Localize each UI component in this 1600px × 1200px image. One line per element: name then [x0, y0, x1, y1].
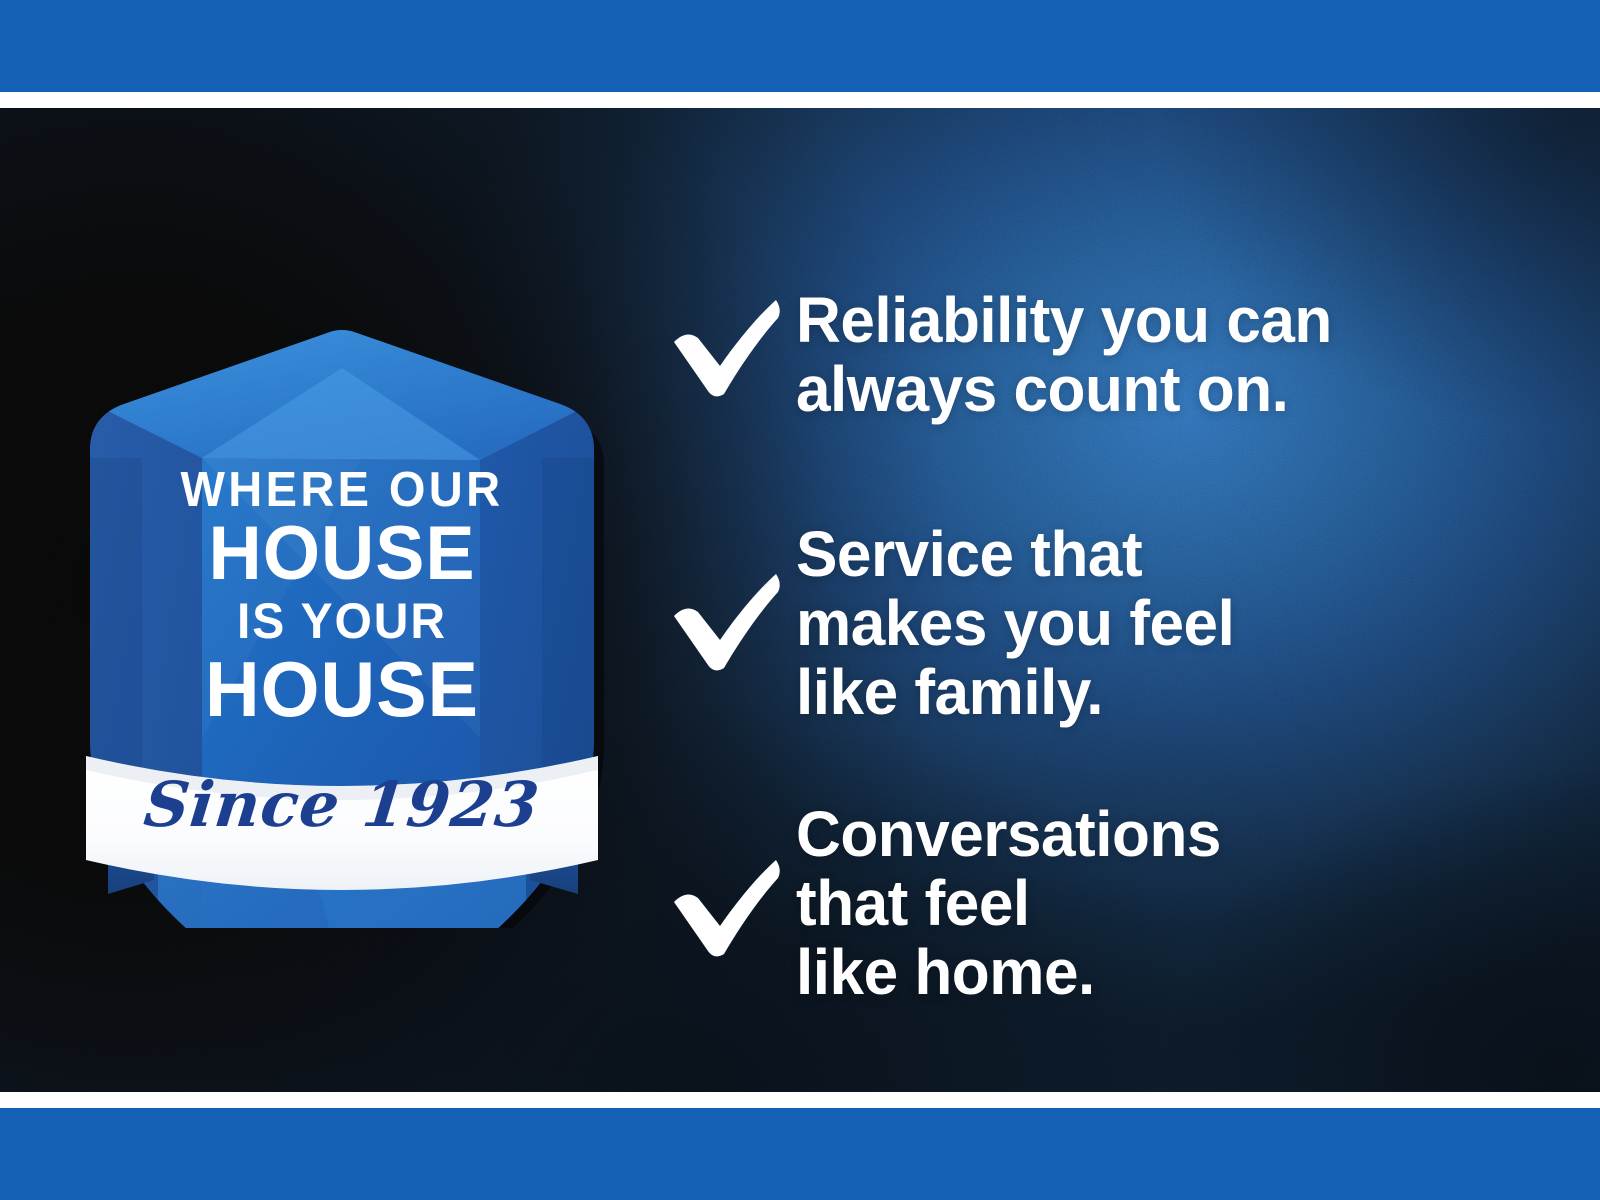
logo-line-house-2: House — [70, 650, 613, 728]
benefits-list: Reliability you can always count on. Ser… — [668, 286, 1548, 1007]
benefit-text: Conversations that feel like home. — [796, 800, 1525, 1007]
benefit-text: Service that makes you feel like family. — [796, 520, 1525, 727]
benefit-text: Reliability you can always count on. — [796, 286, 1525, 424]
benefit-item-conversations: Conversations that feel like home. — [668, 800, 1548, 1007]
logo-since-script: Since 1923 — [58, 768, 626, 841]
checkmark-icon — [668, 286, 796, 400]
promo-graphic: Where Our House Is Your House Since 1923… — [0, 0, 1600, 1200]
top-white-divider — [0, 92, 1600, 108]
main-stage: Where Our House Is Your House Since 1923… — [0, 108, 1600, 1092]
checkmark-icon — [668, 520, 796, 674]
bottom-brand-bar — [0, 1108, 1600, 1200]
checkmark-icon — [668, 800, 796, 960]
bottom-white-divider — [0, 1092, 1600, 1108]
logo-line-is-your: Is Your — [73, 596, 611, 646]
logo-line-house-1: House — [70, 516, 613, 592]
company-shield-logo: Where Our House Is Your House Since 1923 — [62, 268, 622, 928]
logo-line-where: Where Our — [73, 466, 611, 515]
benefit-item-service: Service that makes you feel like family. — [668, 520, 1548, 727]
top-brand-bar — [0, 0, 1600, 92]
benefit-item-reliability: Reliability you can always count on. — [668, 286, 1548, 424]
